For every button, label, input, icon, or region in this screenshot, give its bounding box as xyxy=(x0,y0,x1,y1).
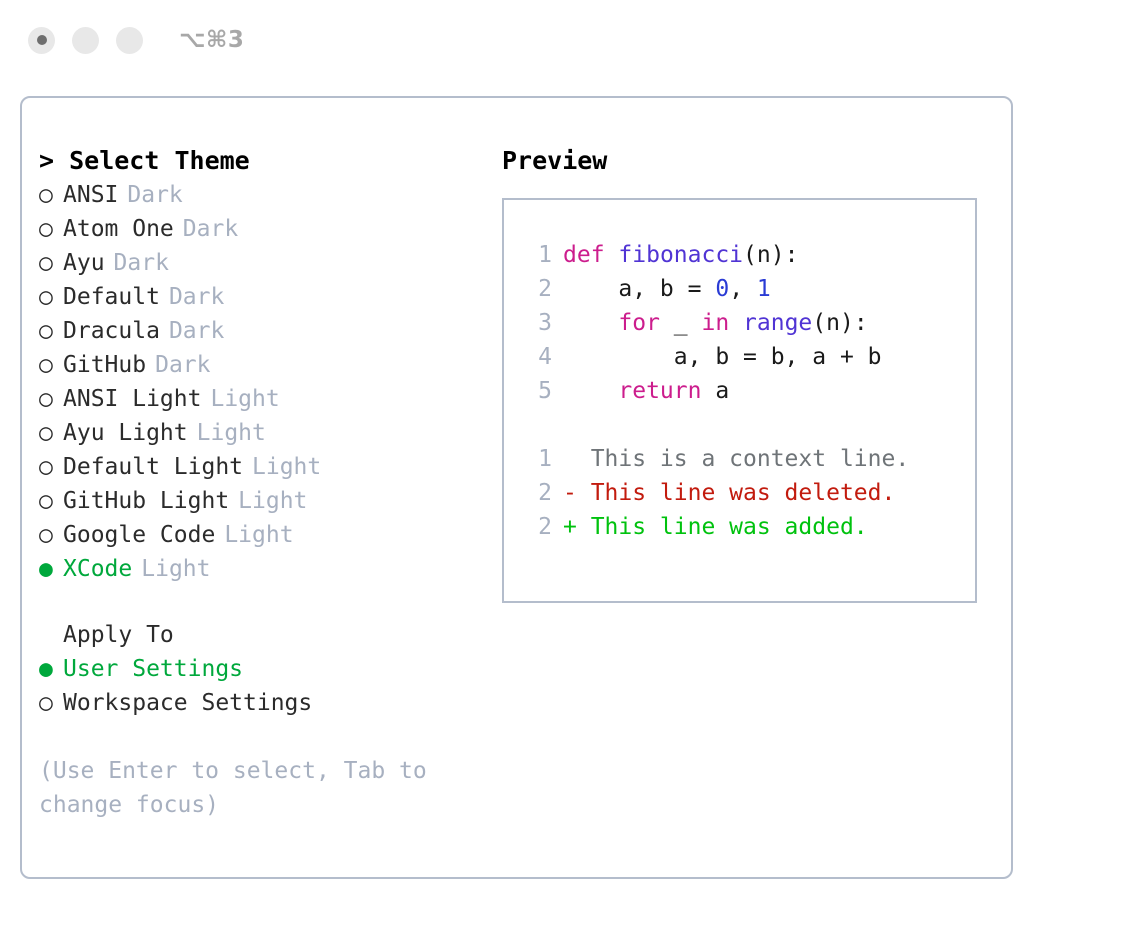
theme-variant-badge: Dark xyxy=(183,212,238,246)
code-line: 1def fibonacci(n): xyxy=(518,238,975,272)
dialog-content: > Select Theme ○ANSIDark○Atom OneDark○Ay… xyxy=(22,98,1011,877)
code-line: 3 for _ in range(n): xyxy=(518,306,975,340)
window-minimize-button[interactable] xyxy=(72,27,99,54)
keyboard-hint-text: (Use Enter to select, Tab to change focu… xyxy=(39,754,439,822)
radio-unselected-icon[interactable]: ○ xyxy=(39,382,63,416)
window-close-button[interactable] xyxy=(28,27,55,54)
theme-selector-dialog: > Select Theme ○ANSIDark○Atom OneDark○Ay… xyxy=(20,96,1013,879)
keyboard-shortcut-label: ⌥⌘3 xyxy=(179,27,244,53)
theme-name-label: Atom One xyxy=(63,212,174,246)
theme-name-label: ANSI xyxy=(63,178,118,212)
theme-list-item[interactable]: ○GitHub LightLight xyxy=(39,484,489,518)
title-bar: ⌥⌘3 xyxy=(0,0,1140,80)
radio-unselected-icon[interactable]: ○ xyxy=(39,212,63,246)
theme-variant-badge: Light xyxy=(224,518,293,552)
apply-to-option[interactable]: ○Workspace Settings xyxy=(39,686,489,720)
preview-column: Preview 1def fibonacci(n):2 a, b = 0, 13… xyxy=(502,144,1002,603)
theme-list-item[interactable]: ○GitHubDark xyxy=(39,348,489,382)
code-token-plain: , xyxy=(729,276,757,302)
radio-selected-icon[interactable]: ● xyxy=(39,652,63,686)
diff-line-content-ctx: This is a context line. xyxy=(563,442,909,476)
code-token-kw: for xyxy=(618,310,660,336)
traffic-light-group xyxy=(28,27,143,54)
code-line-content: a, b = b, a + b xyxy=(563,340,882,374)
code-token-plain: (n): xyxy=(812,310,867,336)
theme-variant-badge: Light xyxy=(141,552,210,586)
code-token-plain: _ xyxy=(660,310,702,336)
code-line-content: def fibonacci(n): xyxy=(563,238,798,272)
select-theme-header: > Select Theme xyxy=(39,144,489,178)
theme-name-label: ANSI Light xyxy=(63,382,201,416)
diff-line-content-del: - This line was deleted. xyxy=(563,476,895,510)
theme-list-item[interactable]: ○Default LightLight xyxy=(39,450,489,484)
radio-unselected-icon[interactable]: ○ xyxy=(39,450,63,484)
code-line: 2 a, b = 0, 1 xyxy=(518,272,975,306)
code-token-plain: a, b = xyxy=(563,276,715,302)
theme-name-label: Ayu Light xyxy=(63,416,188,450)
theme-variant-badge: Light xyxy=(210,382,279,416)
code-line-number: 4 xyxy=(518,340,552,374)
theme-variant-badge: Dark xyxy=(169,280,224,314)
code-token-num: 1 xyxy=(757,276,771,302)
theme-variant-badge: Light xyxy=(238,484,307,518)
code-token-num: 0 xyxy=(715,276,729,302)
diff-line-number: 2 xyxy=(518,476,552,510)
code-token-kw: in xyxy=(701,310,729,336)
radio-unselected-icon[interactable]: ○ xyxy=(39,484,63,518)
radio-unselected-icon[interactable]: ○ xyxy=(39,348,63,382)
code-token-fn: range xyxy=(743,310,812,336)
code-token-plain xyxy=(563,310,618,336)
diff-line: 2+ This line was added. xyxy=(518,510,975,544)
theme-name-label: Ayu xyxy=(63,246,105,280)
code-line-number: 1 xyxy=(518,238,552,272)
diff-line: 2- This line was deleted. xyxy=(518,476,975,510)
window-maximize-button[interactable] xyxy=(116,27,143,54)
code-line-number: 2 xyxy=(518,272,552,306)
code-token-fn: fibonacci xyxy=(618,242,743,268)
code-diff-spacer xyxy=(518,408,975,442)
diff-line-number: 2 xyxy=(518,510,552,544)
radio-unselected-icon[interactable]: ○ xyxy=(39,246,63,280)
code-token-plain xyxy=(729,310,743,336)
code-line-content: a, b = 0, 1 xyxy=(563,272,771,306)
theme-name-label: XCode xyxy=(63,552,132,586)
theme-list-item[interactable]: ○AyuDark xyxy=(39,246,489,280)
theme-list-item[interactable]: ○Google CodeLight xyxy=(39,518,489,552)
radio-selected-icon[interactable]: ● xyxy=(39,552,63,586)
code-line-number: 3 xyxy=(518,306,552,340)
diff-line-content-add: + This line was added. xyxy=(563,510,868,544)
theme-list: ○ANSIDark○Atom OneDark○AyuDark○DefaultDa… xyxy=(39,178,489,586)
app-window: ⌥⌘3 > Select Theme ○ANSIDark○Atom OneDar… xyxy=(0,0,1140,934)
theme-variant-badge: Dark xyxy=(114,246,169,280)
radio-unselected-icon[interactable]: ○ xyxy=(39,518,63,552)
code-line-content: return a xyxy=(563,374,729,408)
apply-to-label: Workspace Settings xyxy=(63,686,312,720)
code-token-plain: a xyxy=(701,378,729,404)
radio-unselected-icon[interactable]: ○ xyxy=(39,178,63,212)
theme-list-item[interactable]: ○ANSIDark xyxy=(39,178,489,212)
code-sample: 1def fibonacci(n):2 a, b = 0, 13 for _ i… xyxy=(518,238,975,408)
theme-variant-badge: Dark xyxy=(155,348,210,382)
theme-list-item[interactable]: ○Atom OneDark xyxy=(39,212,489,246)
code-token-plain xyxy=(563,378,618,404)
theme-list-item[interactable]: ●XCodeLight xyxy=(39,552,489,586)
theme-selection-column: > Select Theme ○ANSIDark○Atom OneDark○Ay… xyxy=(39,144,489,822)
diff-line-number: 1 xyxy=(518,442,552,476)
theme-name-label: Default xyxy=(63,280,160,314)
theme-list-item[interactable]: ○Ayu LightLight xyxy=(39,416,489,450)
theme-name-label: Default Light xyxy=(63,450,243,484)
code-token-plain xyxy=(605,242,619,268)
theme-name-label: GitHub xyxy=(63,348,146,382)
code-line-number: 5 xyxy=(518,374,552,408)
theme-name-label: Google Code xyxy=(63,518,215,552)
diff-sample: 1 This is a context line.2- This line wa… xyxy=(518,442,975,544)
preview-panel: 1def fibonacci(n):2 a, b = 0, 13 for _ i… xyxy=(502,198,977,603)
active-dot-icon xyxy=(37,35,47,45)
theme-list-item[interactable]: ○ANSI LightLight xyxy=(39,382,489,416)
preview-header: Preview xyxy=(502,144,1002,178)
theme-variant-badge: Light xyxy=(252,450,321,484)
radio-unselected-icon[interactable]: ○ xyxy=(39,314,63,348)
code-token-plain: a, b = b, a + b xyxy=(563,344,882,370)
apply-to-label: User Settings xyxy=(63,652,243,686)
theme-list-item[interactable]: ○DefaultDark xyxy=(39,280,489,314)
radio-unselected-icon[interactable]: ○ xyxy=(39,280,63,314)
theme-name-label: Dracula xyxy=(63,314,160,348)
apply-to-header: Apply To xyxy=(39,618,489,652)
code-line: 4 a, b = b, a + b xyxy=(518,340,975,374)
apply-to-option[interactable]: ●User Settings xyxy=(39,652,489,686)
code-token-kw: def xyxy=(563,242,605,268)
code-token-plain: (n): xyxy=(743,242,798,268)
diff-line: 1 This is a context line. xyxy=(518,442,975,476)
code-line-content: for _ in range(n): xyxy=(563,306,868,340)
theme-variant-badge: Dark xyxy=(127,178,182,212)
apply-to-list: ●User Settings○Workspace Settings xyxy=(39,652,489,720)
radio-unselected-icon[interactable]: ○ xyxy=(39,416,63,450)
theme-variant-badge: Light xyxy=(197,416,266,450)
theme-variant-badge: Dark xyxy=(169,314,224,348)
theme-name-label: GitHub Light xyxy=(63,484,229,518)
theme-list-item[interactable]: ○DraculaDark xyxy=(39,314,489,348)
code-token-kw: return xyxy=(618,378,701,404)
radio-unselected-icon[interactable]: ○ xyxy=(39,686,63,720)
code-line: 5 return a xyxy=(518,374,975,408)
apply-to-section: Apply To ●User Settings○Workspace Settin… xyxy=(39,618,489,720)
